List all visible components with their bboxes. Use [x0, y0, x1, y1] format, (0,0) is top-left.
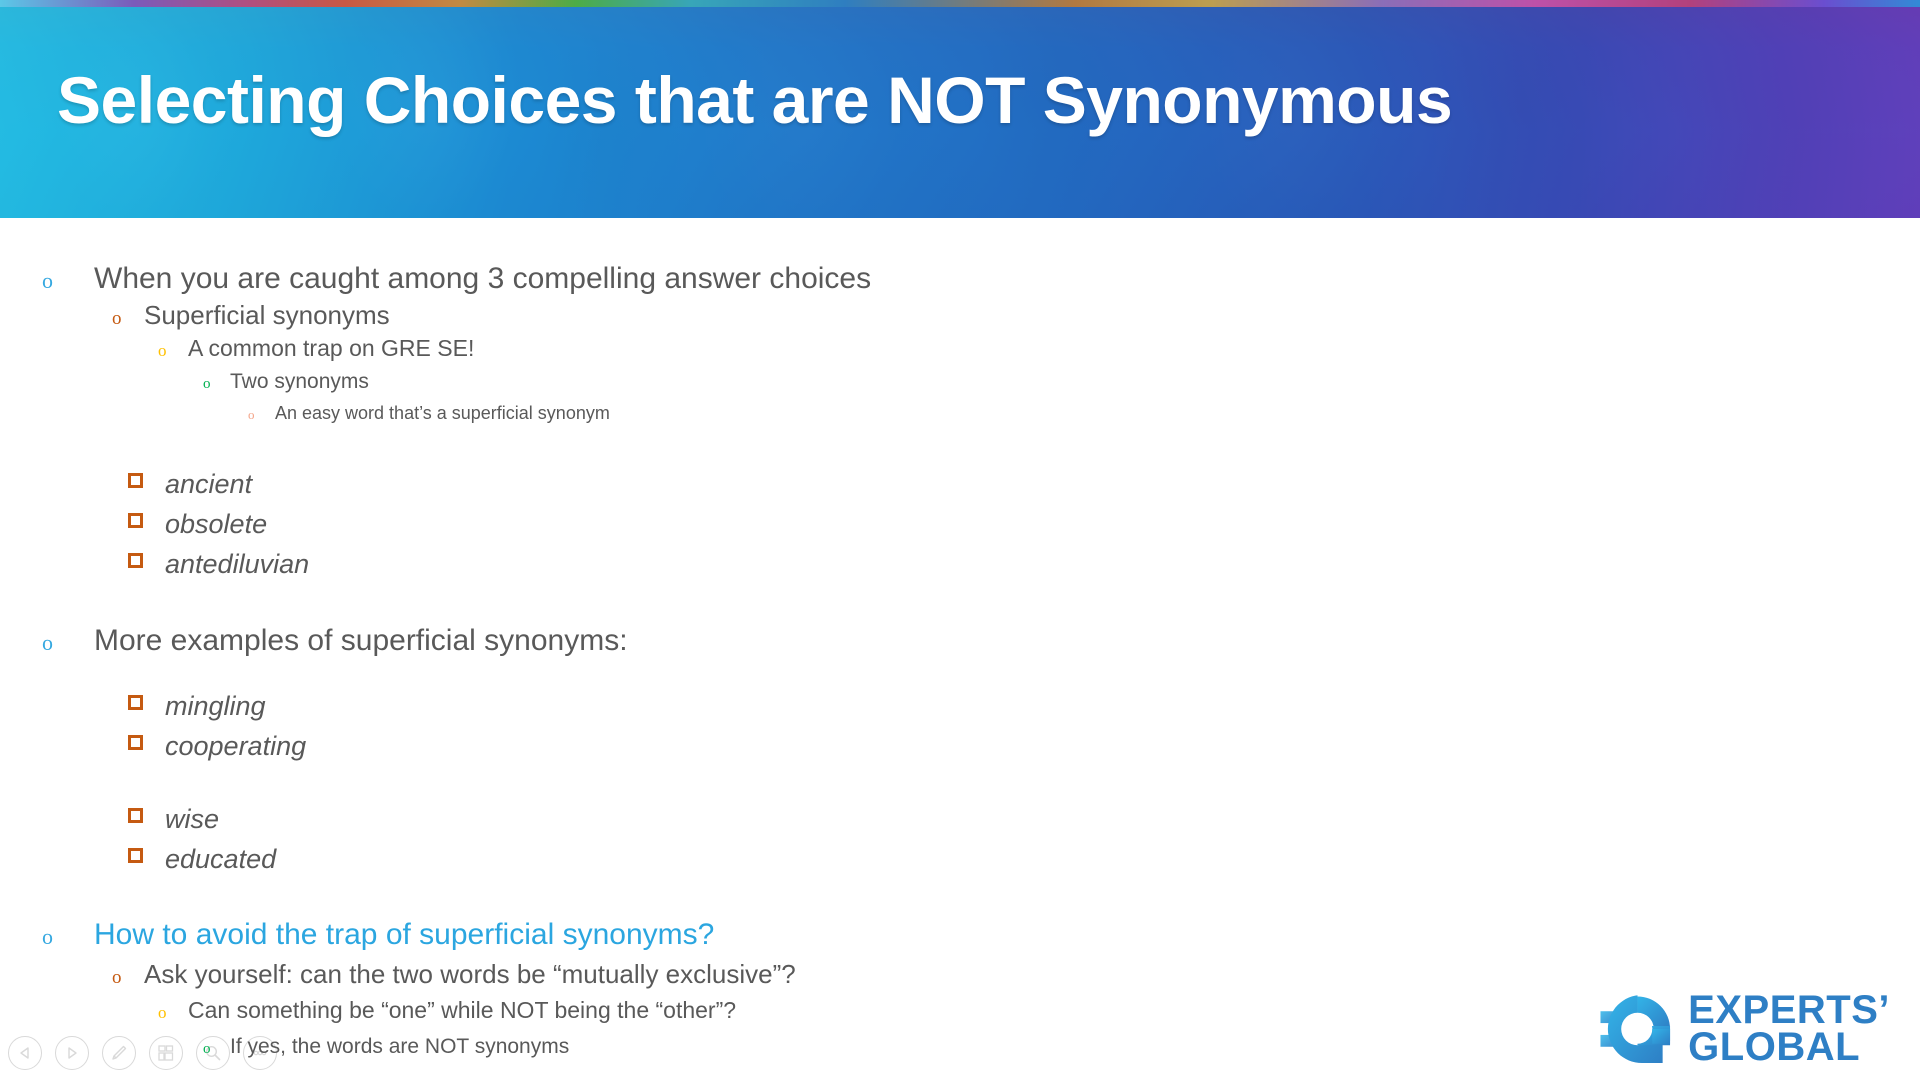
- pen-tools-button[interactable]: [102, 1036, 136, 1070]
- bullet-text-more-examples: More examples of superficial synonyms:: [94, 624, 628, 658]
- slide-title: Selecting Choices that are NOT Synonymou…: [57, 62, 1452, 138]
- next-slide-button[interactable]: [55, 1036, 89, 1070]
- experts-global-g-mark: [1598, 992, 1674, 1066]
- bullet-marker-level4: o: [203, 377, 230, 392]
- bullet-text-ask-yourself: Ask yourself: can the two words be “mutu…: [144, 959, 796, 990]
- slide-body: o When you are caught among 3 compelling…: [0, 218, 1920, 1080]
- logo-line-1: EXPERTS’: [1688, 992, 1890, 1029]
- checkbox-icon[interactable]: [128, 473, 148, 493]
- bullet-text-if-yes: If yes, the words are NOT synonyms: [230, 1035, 569, 1059]
- slide-header-banner: Selecting Choices that are NOT Synonymou…: [0, 0, 1920, 218]
- bullet-item-when-caught: o When you are caught among 3 compelling…: [42, 262, 871, 296]
- bullet-marker-level2: o: [112, 968, 144, 987]
- checkbox-icon[interactable]: [128, 808, 148, 828]
- logo-line-2: GLOBAL: [1688, 1029, 1890, 1066]
- checkbox-icon[interactable]: [128, 735, 148, 755]
- checkbox-label-educated: educated: [165, 844, 276, 875]
- checkbox-icon[interactable]: [128, 695, 148, 715]
- previous-slide-button[interactable]: [8, 1036, 42, 1070]
- bullet-marker-level5: o: [248, 408, 275, 421]
- bullet-marker-level2: o: [112, 309, 144, 328]
- checkbox-icon[interactable]: [128, 553, 148, 573]
- bullet-marker-level1: o: [42, 632, 94, 654]
- checkbox-item-ancient: ancient: [128, 469, 252, 500]
- bullet-marker-level4: o: [203, 1042, 230, 1057]
- triangle-left-icon: [17, 1045, 33, 1061]
- bullet-item-superficial-synonyms: o Superficial synonyms: [112, 300, 390, 331]
- checkbox-label-antediluvian: antediluvian: [165, 549, 309, 580]
- pen-icon: [109, 1043, 129, 1063]
- checkbox-item-antediluvian: antediluvian: [128, 549, 309, 580]
- checkbox-icon[interactable]: [128, 513, 148, 533]
- bullet-text-easy-word: An easy word that’s a superficial synony…: [275, 403, 610, 424]
- experts-global-logo: EXPERTS’ GLOBAL: [1598, 992, 1890, 1066]
- checkbox-item-mingling: mingling: [128, 691, 266, 722]
- checkbox-label-wise: wise: [165, 804, 219, 835]
- bullet-text-when-caught: When you are caught among 3 compelling a…: [94, 262, 871, 296]
- bullet-item-more-examples: o More examples of superficial synonyms:: [42, 624, 628, 658]
- checkbox-item-cooperating: cooperating: [128, 731, 306, 762]
- checkbox-label-mingling: mingling: [165, 691, 266, 722]
- slide-thumbnails-button[interactable]: [149, 1036, 183, 1070]
- checkbox-item-wise: wise: [128, 804, 219, 835]
- checkbox-label-obsolete: obsolete: [165, 509, 267, 540]
- bullet-item-ask-yourself: o Ask yourself: can the two words be “mu…: [112, 959, 796, 990]
- header-top-color-strip: [0, 0, 1920, 7]
- bullet-text-common-trap: A common trap on GRE SE!: [188, 335, 474, 362]
- bullet-marker-level3: o: [158, 342, 188, 359]
- bullet-item-easy-word: o An easy word that’s a superficial syno…: [248, 403, 610, 424]
- bullet-text-how-to-avoid: How to avoid the trap of superficial syn…: [94, 918, 714, 952]
- bullet-item-can-something-be: o Can something be “one” while NOT being…: [158, 997, 736, 1024]
- bullet-item-two-synonyms: o Two synonyms: [203, 370, 369, 394]
- bullet-text-two-synonyms: Two synonyms: [230, 370, 369, 394]
- checkbox-label-ancient: ancient: [165, 469, 252, 500]
- bullet-item-common-trap: o A common trap on GRE SE!: [158, 335, 474, 362]
- checkbox-item-educated: educated: [128, 844, 276, 875]
- logo-wordmark: EXPERTS’ GLOBAL: [1688, 992, 1890, 1066]
- checkbox-item-obsolete: obsolete: [128, 509, 267, 540]
- bullet-marker-level3: o: [158, 1004, 188, 1021]
- presentation-slide: Selecting Choices that are NOT Synonymou…: [0, 0, 1920, 1080]
- triangle-right-icon: [64, 1045, 80, 1061]
- checkbox-icon[interactable]: [128, 848, 148, 868]
- bullet-item-how-to-avoid: o How to avoid the trap of superficial s…: [42, 918, 714, 952]
- bullet-marker-level1: o: [42, 926, 94, 948]
- bullet-text-can-something-be: Can something be “one” while NOT being t…: [188, 997, 736, 1024]
- checkbox-label-cooperating: cooperating: [165, 731, 306, 762]
- grid-icon: [157, 1044, 175, 1062]
- bullet-text-superficial-synonyms: Superficial synonyms: [144, 300, 390, 331]
- bullet-marker-level1: o: [42, 270, 94, 292]
- bullet-item-if-yes: o If yes, the words are NOT synonyms: [203, 1035, 569, 1059]
